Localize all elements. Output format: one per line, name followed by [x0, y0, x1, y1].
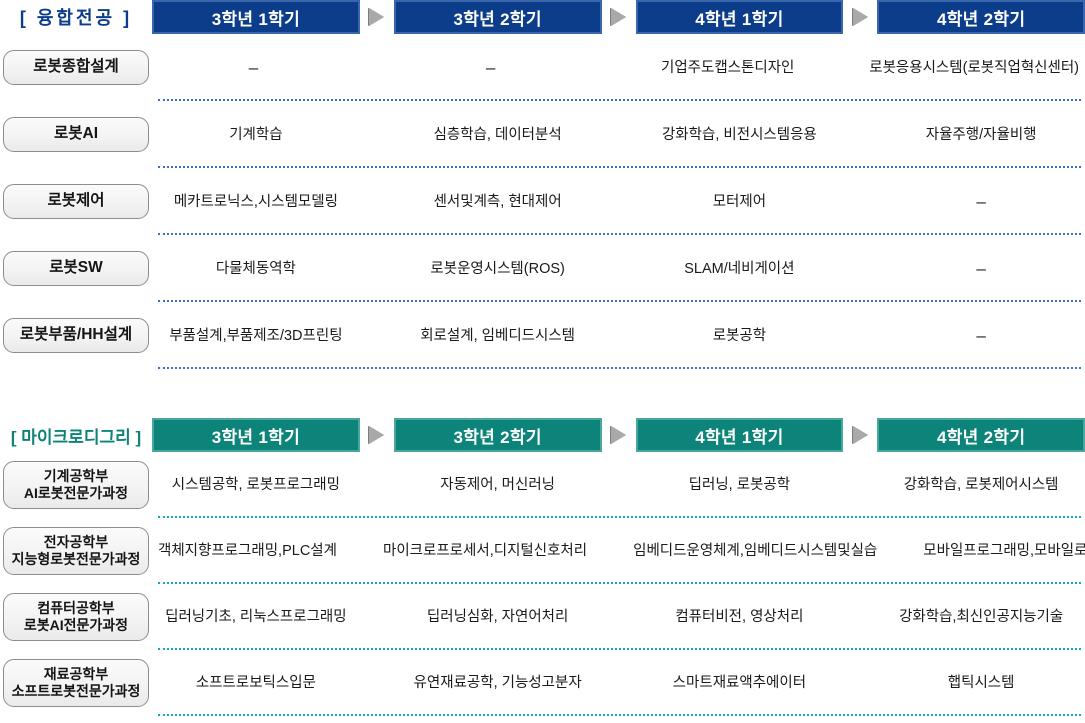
table-row: 로봇부품/HH설계부품설계,부품제조/3D프린팅회로설계, 임베디드시스템로봇공… — [0, 302, 1085, 369]
column-gap — [602, 302, 636, 369]
row-label-badge[interactable]: 전자공학부지능형로봇전문가과정 — [3, 527, 149, 575]
block-title: [ 융합전공 ] — [0, 0, 152, 34]
column-gap — [602, 235, 636, 302]
course-cell[interactable]: – — [877, 235, 1085, 302]
course-line: 강화학습, — [899, 607, 956, 627]
table-row: 로봇제어메카트로닉스,시스템모델링센서및계측, 현대제어모터제어– — [0, 168, 1085, 235]
row-label-line: 지능형로봇전문가과정 — [6, 551, 146, 568]
row-label-line: 로봇제어 — [6, 192, 146, 211]
course-cell[interactable]: – — [152, 34, 355, 101]
course-line: 로봇운영시스템(ROS) — [430, 259, 564, 279]
course-cell[interactable]: 센서및계측, 현대제어 — [394, 168, 602, 235]
row-label-cell: 컴퓨터공학부로봇AI전문가과정 — [0, 584, 152, 650]
column-gap — [360, 168, 394, 235]
table-header-row: [ 융합전공 ]3학년 1학기3학년 2학기4학년 1학기4학년 2학기 — [0, 0, 1085, 34]
row-label-cell: 재료공학부소프트로봇전문가과정 — [0, 650, 152, 716]
course-cell[interactable]: 로봇운영시스템(ROS) — [394, 235, 602, 302]
course-line: 햅틱시스템 — [948, 673, 1015, 693]
course-cell[interactable]: 딥러닝, 로봇공학 — [636, 452, 844, 518]
course-cell[interactable]: 회로설계, 임베디드시스템 — [394, 302, 602, 369]
course-cell[interactable]: 자동제어, 머신러닝 — [394, 452, 602, 518]
row-label-line: 로봇AI전문가과정 — [6, 617, 146, 634]
row-label-cell: 로봇제어 — [0, 168, 152, 235]
course-line: 유연재료공학, 기능성고분자 — [414, 673, 582, 693]
course-line: 소프트로보틱스입문 — [196, 673, 316, 693]
course-cell[interactable]: 부품설계,부품제조/3D프린팅 — [152, 302, 360, 369]
course-line: PLC설계 — [282, 541, 337, 561]
row-label-line: 로봇종합설계 — [6, 58, 146, 77]
column-gap — [355, 34, 389, 101]
course-cell[interactable]: 딥러닝기초, 리눅스프로그래밍 — [152, 584, 360, 650]
triangle-right-icon-glyph — [853, 426, 868, 444]
term-header-4[interactable]: 4학년 2학기 — [877, 418, 1085, 452]
column-gap — [593, 518, 627, 584]
course-line: 자율주행/자율비행 — [926, 125, 1037, 145]
column-gap — [360, 101, 394, 168]
course-cell[interactable]: – — [877, 302, 1085, 369]
course-cell[interactable]: 심층학습, 데이터분석 — [394, 101, 602, 168]
triangle-right-icon — [843, 0, 877, 34]
row-label-badge[interactable]: 로봇제어 — [3, 184, 149, 219]
row-label-cell: 로봇SW — [0, 235, 152, 302]
triangle-right-icon-glyph — [611, 8, 626, 26]
course-line: 강화학습, 로봇제어시스템 — [904, 475, 1059, 495]
course-cell[interactable]: SLAM/네비게이션 — [636, 235, 844, 302]
course-cell[interactable]: 기계학습 — [152, 101, 360, 168]
course-line: 센서및계측, 현대제어 — [434, 192, 562, 212]
course-line: 딥러닝심화, 자연어처리 — [427, 607, 568, 627]
curriculum-page: [ 융합전공 ]3학년 1학기3학년 2학기4학년 1학기4학년 2학기로봇종합… — [0, 0, 1085, 723]
column-gap — [843, 584, 877, 650]
row-label-badge[interactable]: 로봇SW — [3, 251, 149, 286]
term-header-cells: 3학년 1학기3학년 2학기4학년 1학기4학년 2학기 — [152, 0, 1085, 34]
course-line: 기업주도캡스톤디자인 — [661, 58, 794, 78]
column-gap — [602, 168, 636, 235]
column-gap — [592, 34, 626, 101]
row-label-badge[interactable]: 로봇종합설계 — [3, 50, 149, 85]
course-cell[interactable]: 딥러닝심화, 자연어처리 — [394, 584, 602, 650]
course-line: 디지털신호처리 — [494, 541, 587, 561]
course-line: 딥러닝, 로봇공학 — [689, 475, 790, 495]
column-gap — [843, 101, 877, 168]
column-gap — [829, 34, 863, 101]
column-gap — [602, 584, 636, 650]
column-gap — [843, 235, 877, 302]
table-row: 기계공학부AI로봇전문가과정시스템공학, 로봇프로그래밍자동제어, 머신러닝딥러… — [0, 452, 1085, 518]
row-separator — [158, 714, 1081, 716]
course-cell[interactable]: 객체지향프로그래밍,PLC설계 — [152, 518, 343, 584]
course-cell[interactable]: 마이크로프로세서,디지털신호처리 — [377, 518, 593, 584]
row-data-cells: 다물체동역학로봇운영시스템(ROS)SLAM/네비게이션– — [152, 235, 1085, 302]
course-cell[interactable]: 다물체동역학 — [152, 235, 360, 302]
row-label-line: 재료공학부 — [6, 666, 146, 683]
column-gap — [360, 452, 394, 518]
course-cell[interactable]: 강화학습,최신인공지능기술 — [877, 584, 1085, 650]
row-data-cells: 기계학습심층학습, 데이터분석강화학습, 비전시스템응용자율주행/자율비행 — [152, 101, 1085, 168]
column-gap — [843, 302, 877, 369]
column-gap — [602, 650, 636, 716]
course-line: 마이크로프로세서, — [383, 541, 494, 561]
course-line: (로봇직업혁신센터) — [963, 58, 1079, 78]
course-cell[interactable]: 시스템공학, 로봇프로그래밍 — [152, 452, 360, 518]
course-cell[interactable]: 스마트재료액추에이터 — [636, 650, 844, 716]
block-title: [ 마이크로디그리 ] — [0, 418, 152, 452]
course-cell[interactable]: 로봇공학 — [636, 302, 844, 369]
row-label-line: 로봇SW — [6, 259, 146, 278]
course-cell[interactable]: 자율주행/자율비행 — [877, 101, 1085, 168]
triangle-right-icon-glyph — [369, 8, 384, 26]
row-label-line: 기계공학부 — [6, 468, 146, 485]
course-cell[interactable]: 로봇응용시스템(로봇직업혁신센터) — [863, 34, 1085, 101]
triangle-right-icon — [602, 0, 636, 34]
row-data-cells: 소프트로보틱스입문유연재료공학, 기능성고분자스마트재료액추에이터햅틱시스템 — [152, 650, 1085, 716]
course-line: 모터제어 — [713, 192, 766, 212]
row-label-line: 로봇AI — [6, 125, 146, 144]
course-line: 시스템모델링 — [258, 192, 338, 212]
course-line: 딥러닝기초, 리눅스프로그래밍 — [165, 607, 346, 627]
table-body: 기계공학부AI로봇전문가과정시스템공학, 로봇프로그래밍자동제어, 머신러닝딥러… — [0, 452, 1085, 716]
course-cell[interactable]: 컴퓨터비전, 영상처리 — [636, 584, 844, 650]
triangle-right-icon-glyph — [853, 8, 868, 26]
triangle-right-icon-glyph — [369, 426, 384, 444]
row-label-line: 소프트로봇전문가과정 — [6, 683, 146, 700]
row-label-badge[interactable]: 재료공학부소프트로봇전문가과정 — [3, 659, 149, 707]
course-line: 자동제어, 머신러닝 — [440, 475, 555, 495]
course-line: 심층학습, 데이터분석 — [434, 125, 562, 145]
table-row: 컴퓨터공학부로봇AI전문가과정딥러닝기초, 리눅스프로그래밍딥러닝심화, 자연어… — [0, 584, 1085, 650]
course-line: – — [249, 56, 258, 79]
course-line: – — [976, 257, 985, 280]
term-header-3[interactable]: 4학년 1학기 — [636, 0, 844, 34]
course-cell[interactable]: 모터제어 — [636, 168, 844, 235]
row-label-cell: 로봇부품/HH설계 — [0, 302, 152, 369]
course-line: – — [486, 56, 495, 79]
row-label-badge[interactable]: 로봇부품/HH설계 — [3, 318, 149, 353]
table-row: 로봇종합설계––기업주도캡스톤디자인로봇응용시스템(로봇직업혁신센터) — [0, 34, 1085, 101]
table-body: 로봇종합설계––기업주도캡스톤디자인로봇응용시스템(로봇직업혁신센터)로봇AI기… — [0, 34, 1085, 369]
course-line: 모바일로봇설계 — [1034, 541, 1085, 561]
triangle-right-icon — [843, 418, 877, 452]
course-line: 다물체동역학 — [216, 259, 296, 279]
course-line: 로봇응용시스템 — [869, 58, 962, 78]
table-row: 로봇SW다물체동역학로봇운영시스템(ROS)SLAM/네비게이션– — [0, 235, 1085, 302]
course-line: – — [976, 190, 985, 213]
course-line: 강화학습, 비전시스템응용 — [662, 125, 817, 145]
table-header-row: [ 마이크로디그리 ]3학년 1학기3학년 2학기4학년 1학기4학년 2학기 — [0, 418, 1085, 452]
course-line: 시스템공학, 로봇프로그래밍 — [172, 475, 340, 495]
course-cell[interactable]: – — [389, 34, 592, 101]
column-gap — [360, 650, 394, 716]
course-line: 모바일프로그래밍, — [923, 541, 1034, 561]
column-gap — [602, 452, 636, 518]
term-header-1[interactable]: 3학년 1학기 — [152, 418, 360, 452]
column-gap — [360, 584, 394, 650]
course-line: – — [976, 324, 985, 347]
course-line: 부품제조/3D프린팅 — [227, 326, 343, 346]
row-separator — [158, 367, 1081, 369]
term-header-4[interactable]: 4학년 2학기 — [877, 0, 1085, 34]
term-header-2[interactable]: 3학년 2학기 — [394, 418, 602, 452]
triangle-right-icon-glyph — [611, 426, 626, 444]
column-gap — [602, 101, 636, 168]
course-line: 컴퓨터비전, 영상처리 — [675, 607, 803, 627]
course-cell[interactable]: 유연재료공학, 기능성고분자 — [394, 650, 602, 716]
term-header-cells: 3학년 1학기3학년 2학기4학년 1학기4학년 2학기 — [152, 418, 1085, 452]
column-gap — [360, 235, 394, 302]
course-line: 객체지향프로그래밍, — [158, 541, 282, 561]
table-row: 전자공학부지능형로봇전문가과정객체지향프로그래밍,PLC설계마이크로프로세서,디… — [0, 518, 1085, 584]
column-gap — [843, 452, 877, 518]
row-label-cell: 기계공학부AI로봇전문가과정 — [0, 452, 152, 518]
column-gap — [343, 518, 377, 584]
course-cell[interactable]: 기업주도캡스톤디자인 — [626, 34, 829, 101]
triangle-right-icon — [360, 0, 394, 34]
curriculum-block-2: [ 마이크로디그리 ]3학년 1학기3학년 2학기4학년 1학기4학년 2학기기… — [0, 418, 1085, 716]
row-label-line: AI로봇전문가과정 — [6, 485, 146, 502]
course-line: 임베디드운영체계, — [633, 541, 744, 561]
table-row: 재료공학부소프트로봇전문가과정소프트로보틱스입문유연재료공학, 기능성고분자스마… — [0, 650, 1085, 716]
column-gap — [883, 518, 917, 584]
row-data-cells: 부품설계,부품제조/3D프린팅회로설계, 임베디드시스템로봇공학– — [152, 302, 1085, 369]
course-line: 스마트재료액추에이터 — [673, 673, 806, 693]
row-data-cells: ––기업주도캡스톤디자인로봇응용시스템(로봇직업혁신센터) — [152, 34, 1085, 101]
course-line: SLAM/네비게이션 — [684, 259, 794, 279]
term-header-1[interactable]: 3학년 1학기 — [152, 0, 360, 34]
row-label-badge[interactable]: 컴퓨터공학부로봇AI전문가과정 — [3, 593, 149, 641]
triangle-right-icon — [360, 418, 394, 452]
course-cell[interactable]: 강화학습, 비전시스템응용 — [636, 101, 844, 168]
row-label-badge[interactable]: 기계공학부AI로봇전문가과정 — [3, 461, 149, 509]
course-line: 기계학습 — [229, 125, 282, 145]
course-line: 임베디드시스템및실습 — [744, 541, 877, 561]
course-line: 최신인공지능기술 — [956, 607, 1063, 627]
column-gap — [360, 302, 394, 369]
course-cell[interactable]: 메카트로닉스,시스템모델링 — [152, 168, 360, 235]
row-data-cells: 메카트로닉스,시스템모델링센서및계측, 현대제어모터제어– — [152, 168, 1085, 235]
row-label-badge[interactable]: 로봇AI — [3, 117, 149, 152]
term-header-2[interactable]: 3학년 2학기 — [394, 0, 602, 34]
row-label-cell: 로봇종합설계 — [0, 34, 152, 101]
course-line: 메카트로닉스, — [174, 192, 258, 212]
row-data-cells: 시스템공학, 로봇프로그래밍자동제어, 머신러닝딥러닝, 로봇공학강화학습, 로… — [152, 452, 1085, 518]
row-label-cell: 전자공학부지능형로봇전문가과정 — [0, 518, 152, 584]
column-gap — [843, 650, 877, 716]
row-data-cells: 딥러닝기초, 리눅스프로그래밍딥러닝심화, 자연어처리컴퓨터비전, 영상처리강화… — [152, 584, 1085, 650]
column-gap — [843, 168, 877, 235]
course-cell[interactable]: 강화학습, 로봇제어시스템 — [877, 452, 1085, 518]
triangle-right-icon — [602, 418, 636, 452]
row-label-line: 로봇부품/HH설계 — [6, 326, 146, 345]
row-label-line: 전자공학부 — [6, 534, 146, 551]
course-cell[interactable]: 소프트로보틱스입문 — [152, 650, 360, 716]
term-header-3[interactable]: 4학년 1학기 — [636, 418, 844, 452]
course-cell[interactable]: 임베디드운영체계,임베디드시스템및실습 — [627, 518, 883, 584]
course-line: 회로설계, 임베디드시스템 — [420, 326, 575, 346]
row-label-cell: 로봇AI — [0, 101, 152, 168]
row-label-line: 컴퓨터공학부 — [6, 600, 146, 617]
course-line: 부품설계, — [169, 326, 226, 346]
curriculum-block-1: [ 융합전공 ]3학년 1학기3학년 2학기4학년 1학기4학년 2학기로봇종합… — [0, 0, 1085, 369]
course-cell[interactable]: 모바일프로그래밍,모바일로봇설계 — [917, 518, 1085, 584]
row-data-cells: 객체지향프로그래밍,PLC설계마이크로프로세서,디지털신호처리임베디드운영체계,… — [152, 518, 1085, 584]
course-line: 로봇공학 — [713, 326, 766, 346]
course-cell[interactable]: 햅틱시스템 — [877, 650, 1085, 716]
course-cell[interactable]: – — [877, 168, 1085, 235]
table-row: 로봇AI기계학습심층학습, 데이터분석강화학습, 비전시스템응용자율주행/자율비… — [0, 101, 1085, 168]
